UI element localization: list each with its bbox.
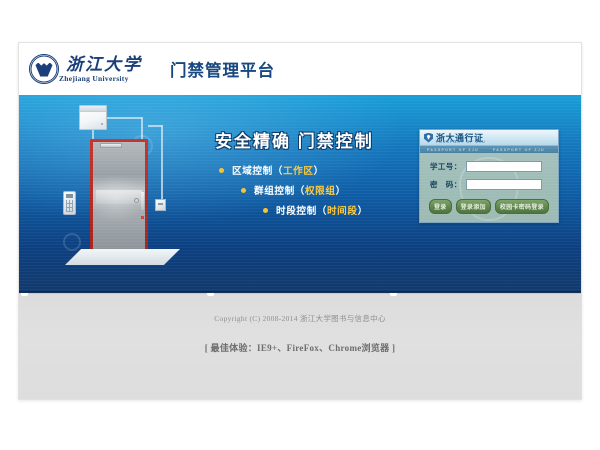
login-panel: 浙大通行证 PASSPORT OF ZJU PASSPORT OF ZJU PA… bbox=[419, 129, 559, 223]
wire bbox=[161, 125, 163, 200]
footer-notch bbox=[21, 293, 28, 296]
login-panel-titlebar: 浙大通行证 PASSPORT OF ZJU bbox=[420, 130, 558, 146]
door-panel bbox=[93, 142, 145, 251]
feature-text: 群组控制（ bbox=[254, 183, 305, 197]
watermark-text: PASSPORT OF ZJU bbox=[486, 148, 552, 152]
keypad-card-reader bbox=[63, 191, 76, 215]
copyright-text: Copyright (C) 2008-2014 浙江大学图书与信息中心 bbox=[19, 294, 581, 324]
footer-notch bbox=[207, 293, 214, 296]
wire bbox=[106, 117, 142, 119]
login-button[interactable]: 登录 bbox=[429, 199, 452, 214]
university-name-en: Zhejiang University bbox=[59, 75, 142, 83]
access-controller-box bbox=[79, 105, 107, 130]
wire bbox=[141, 117, 143, 141]
login-panel-subtitle: PASSPORT OF ZJU bbox=[436, 140, 486, 144]
username-row: 学工号： bbox=[420, 161, 558, 172]
wire bbox=[148, 125, 162, 127]
reader-keys bbox=[66, 200, 73, 212]
door-exit-button bbox=[155, 199, 166, 211]
app-page: 浙江大学 Zhejiang University 门禁管理平台 bbox=[18, 42, 582, 400]
university-name-cn: 浙江大学 bbox=[66, 56, 142, 73]
footer-notches bbox=[19, 293, 581, 296]
door-status-led bbox=[141, 216, 144, 219]
list-item: 群组控制（ 权限组 ） bbox=[219, 183, 368, 197]
feature-text: 区域控制（ bbox=[232, 163, 283, 177]
feature-highlight: 工作区 bbox=[283, 163, 314, 177]
controller-indicator bbox=[101, 123, 103, 125]
campus-card-login-button[interactable]: 校园卡密码登录 bbox=[495, 199, 549, 214]
list-item: 时段控制（ 时间段 ） bbox=[219, 203, 368, 217]
site-header: 浙江大学 Zhejiang University 门禁管理平台 bbox=[19, 43, 581, 95]
feature-tail: ） bbox=[314, 163, 324, 177]
door-access-illustration bbox=[45, 103, 191, 285]
hero-banner: 安全精确 门禁控制 区域控制（ 工作区 ） 群组控制（ 权限组 ） 时段控制（ … bbox=[19, 95, 581, 293]
list-item: 区域控制（ 工作区 ） bbox=[219, 163, 368, 177]
page-title: 门禁管理平台 bbox=[170, 57, 275, 81]
password-row: 密 码： bbox=[420, 179, 558, 190]
zju-seal-icon bbox=[29, 54, 59, 84]
feature-highlight: 时间段 bbox=[327, 203, 358, 217]
password-input[interactable] bbox=[466, 179, 542, 190]
watermark-text: PASSPORT OF ZJU bbox=[420, 148, 486, 152]
login-button-row: 登录 登录添加 校园卡密码登录 bbox=[420, 199, 558, 214]
bullet-dot-icon bbox=[241, 188, 246, 193]
door-handle bbox=[134, 198, 139, 203]
feature-highlight: 权限组 bbox=[305, 183, 336, 197]
security-door bbox=[90, 139, 148, 251]
reader-screen bbox=[66, 194, 73, 198]
bullet-dot-icon bbox=[263, 208, 268, 213]
controller-lid bbox=[80, 106, 106, 112]
site-footer: Copyright (C) 2008-2014 浙江大学图书与信息中心 [ 最佳… bbox=[19, 293, 581, 399]
feature-tail: ） bbox=[336, 183, 346, 197]
username-label: 学工号： bbox=[430, 161, 466, 172]
shield-icon bbox=[424, 133, 433, 143]
bullet-dot-icon bbox=[219, 168, 224, 173]
university-logo: 浙江大学 Zhejiang University bbox=[59, 56, 142, 83]
browser-recommendation: [ 最佳体验：IE9+、FireFox、Chrome浏览器 ] bbox=[19, 324, 581, 354]
feature-list: 区域控制（ 工作区 ） 群组控制（ 权限组 ） 时段控制（ 时间段 ） bbox=[219, 163, 368, 223]
door-lock-plate bbox=[141, 192, 144, 210]
feature-tail: ） bbox=[358, 203, 368, 217]
banner-headline: 安全精确 门禁控制 bbox=[215, 127, 374, 152]
feature-text: 时段控制（ bbox=[276, 203, 327, 217]
login-add-button[interactable]: 登录添加 bbox=[456, 199, 491, 214]
floor-platform bbox=[65, 249, 180, 265]
door-closer bbox=[100, 143, 122, 148]
username-input[interactable] bbox=[466, 161, 542, 172]
password-label: 密 码： bbox=[430, 179, 466, 190]
watermark-text: PASSPORT OF ZJU bbox=[552, 148, 558, 152]
login-form: 学工号： 密 码： 登录 登录添加 校园卡密码登录 bbox=[420, 153, 558, 223]
watermark-strip: PASSPORT OF ZJU PASSPORT OF ZJU PASSPORT… bbox=[420, 146, 558, 153]
footer-notch bbox=[390, 293, 397, 296]
